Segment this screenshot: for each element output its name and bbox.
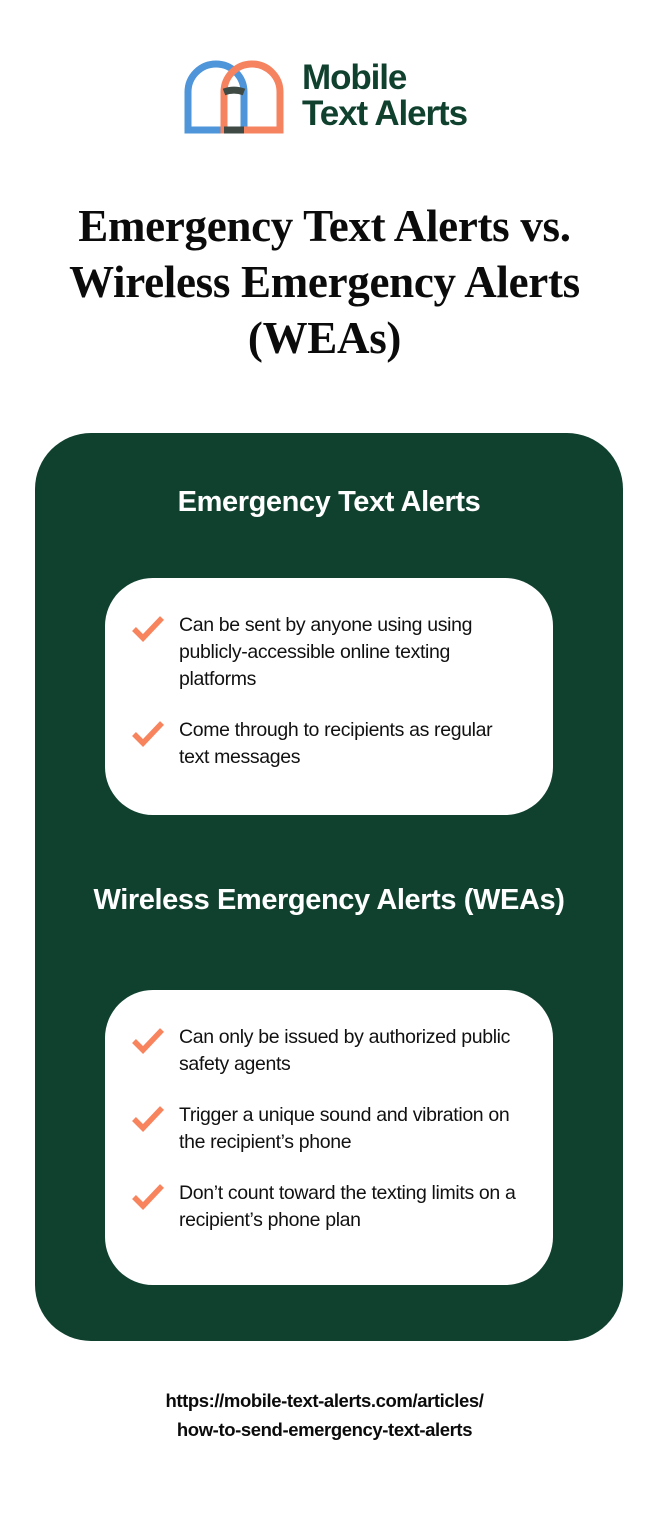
section-heading-wireless-emergency-alerts: Wireless Emergency Alerts (WEAs) [35,881,623,920]
brand-name-line-2: Text Alerts [302,96,467,132]
brand-name-line-1: Mobile [302,60,467,96]
list-item-label: Can only be issued by authorized public … [179,1024,527,1078]
list-item: Trigger a unique sound and vibration on … [131,1102,527,1156]
list-item-label: Can be sent by anyone using using public… [179,612,527,693]
source-url-line-1: https://mobile-text-alerts.com/articles/ [0,1386,649,1415]
section-heading-emergency-text-alerts: Emergency Text Alerts [35,483,623,522]
source-url-line-2: how-to-send-emergency-text-alerts [0,1415,649,1444]
check-icon [131,1026,165,1056]
check-icon [131,614,165,644]
list-item: Can be sent by anyone using using public… [131,612,527,693]
source-url[interactable]: https://mobile-text-alerts.com/articles/… [0,1386,649,1444]
check-icon [131,1104,165,1134]
bullet-card-emergency-text-alerts: Can be sent by anyone using using public… [105,578,553,815]
list-item-label: Trigger a unique sound and vibration on … [179,1102,527,1156]
list-item: Don’t count toward the texting limits on… [131,1180,527,1234]
comparison-panel: Emergency Text Alerts Can be sent by any… [35,433,623,1341]
brand-logo: Mobile Text Alerts [0,58,649,134]
bullet-card-wireless-emergency-alerts: Can only be issued by authorized public … [105,990,553,1285]
page-title: Emergency Text Alerts vs. Wireless Emerg… [44,198,605,366]
list-item-label: Come through to recipients as regular te… [179,717,527,771]
list-item: Can only be issued by authorized public … [131,1024,527,1078]
check-icon [131,719,165,749]
list-item: Come through to recipients as regular te… [131,717,527,771]
brand-wordmark: Mobile Text Alerts [302,60,467,131]
overlapping-chat-bubbles-icon [182,58,286,134]
check-icon [131,1182,165,1212]
list-item-label: Don’t count toward the texting limits on… [179,1180,527,1234]
